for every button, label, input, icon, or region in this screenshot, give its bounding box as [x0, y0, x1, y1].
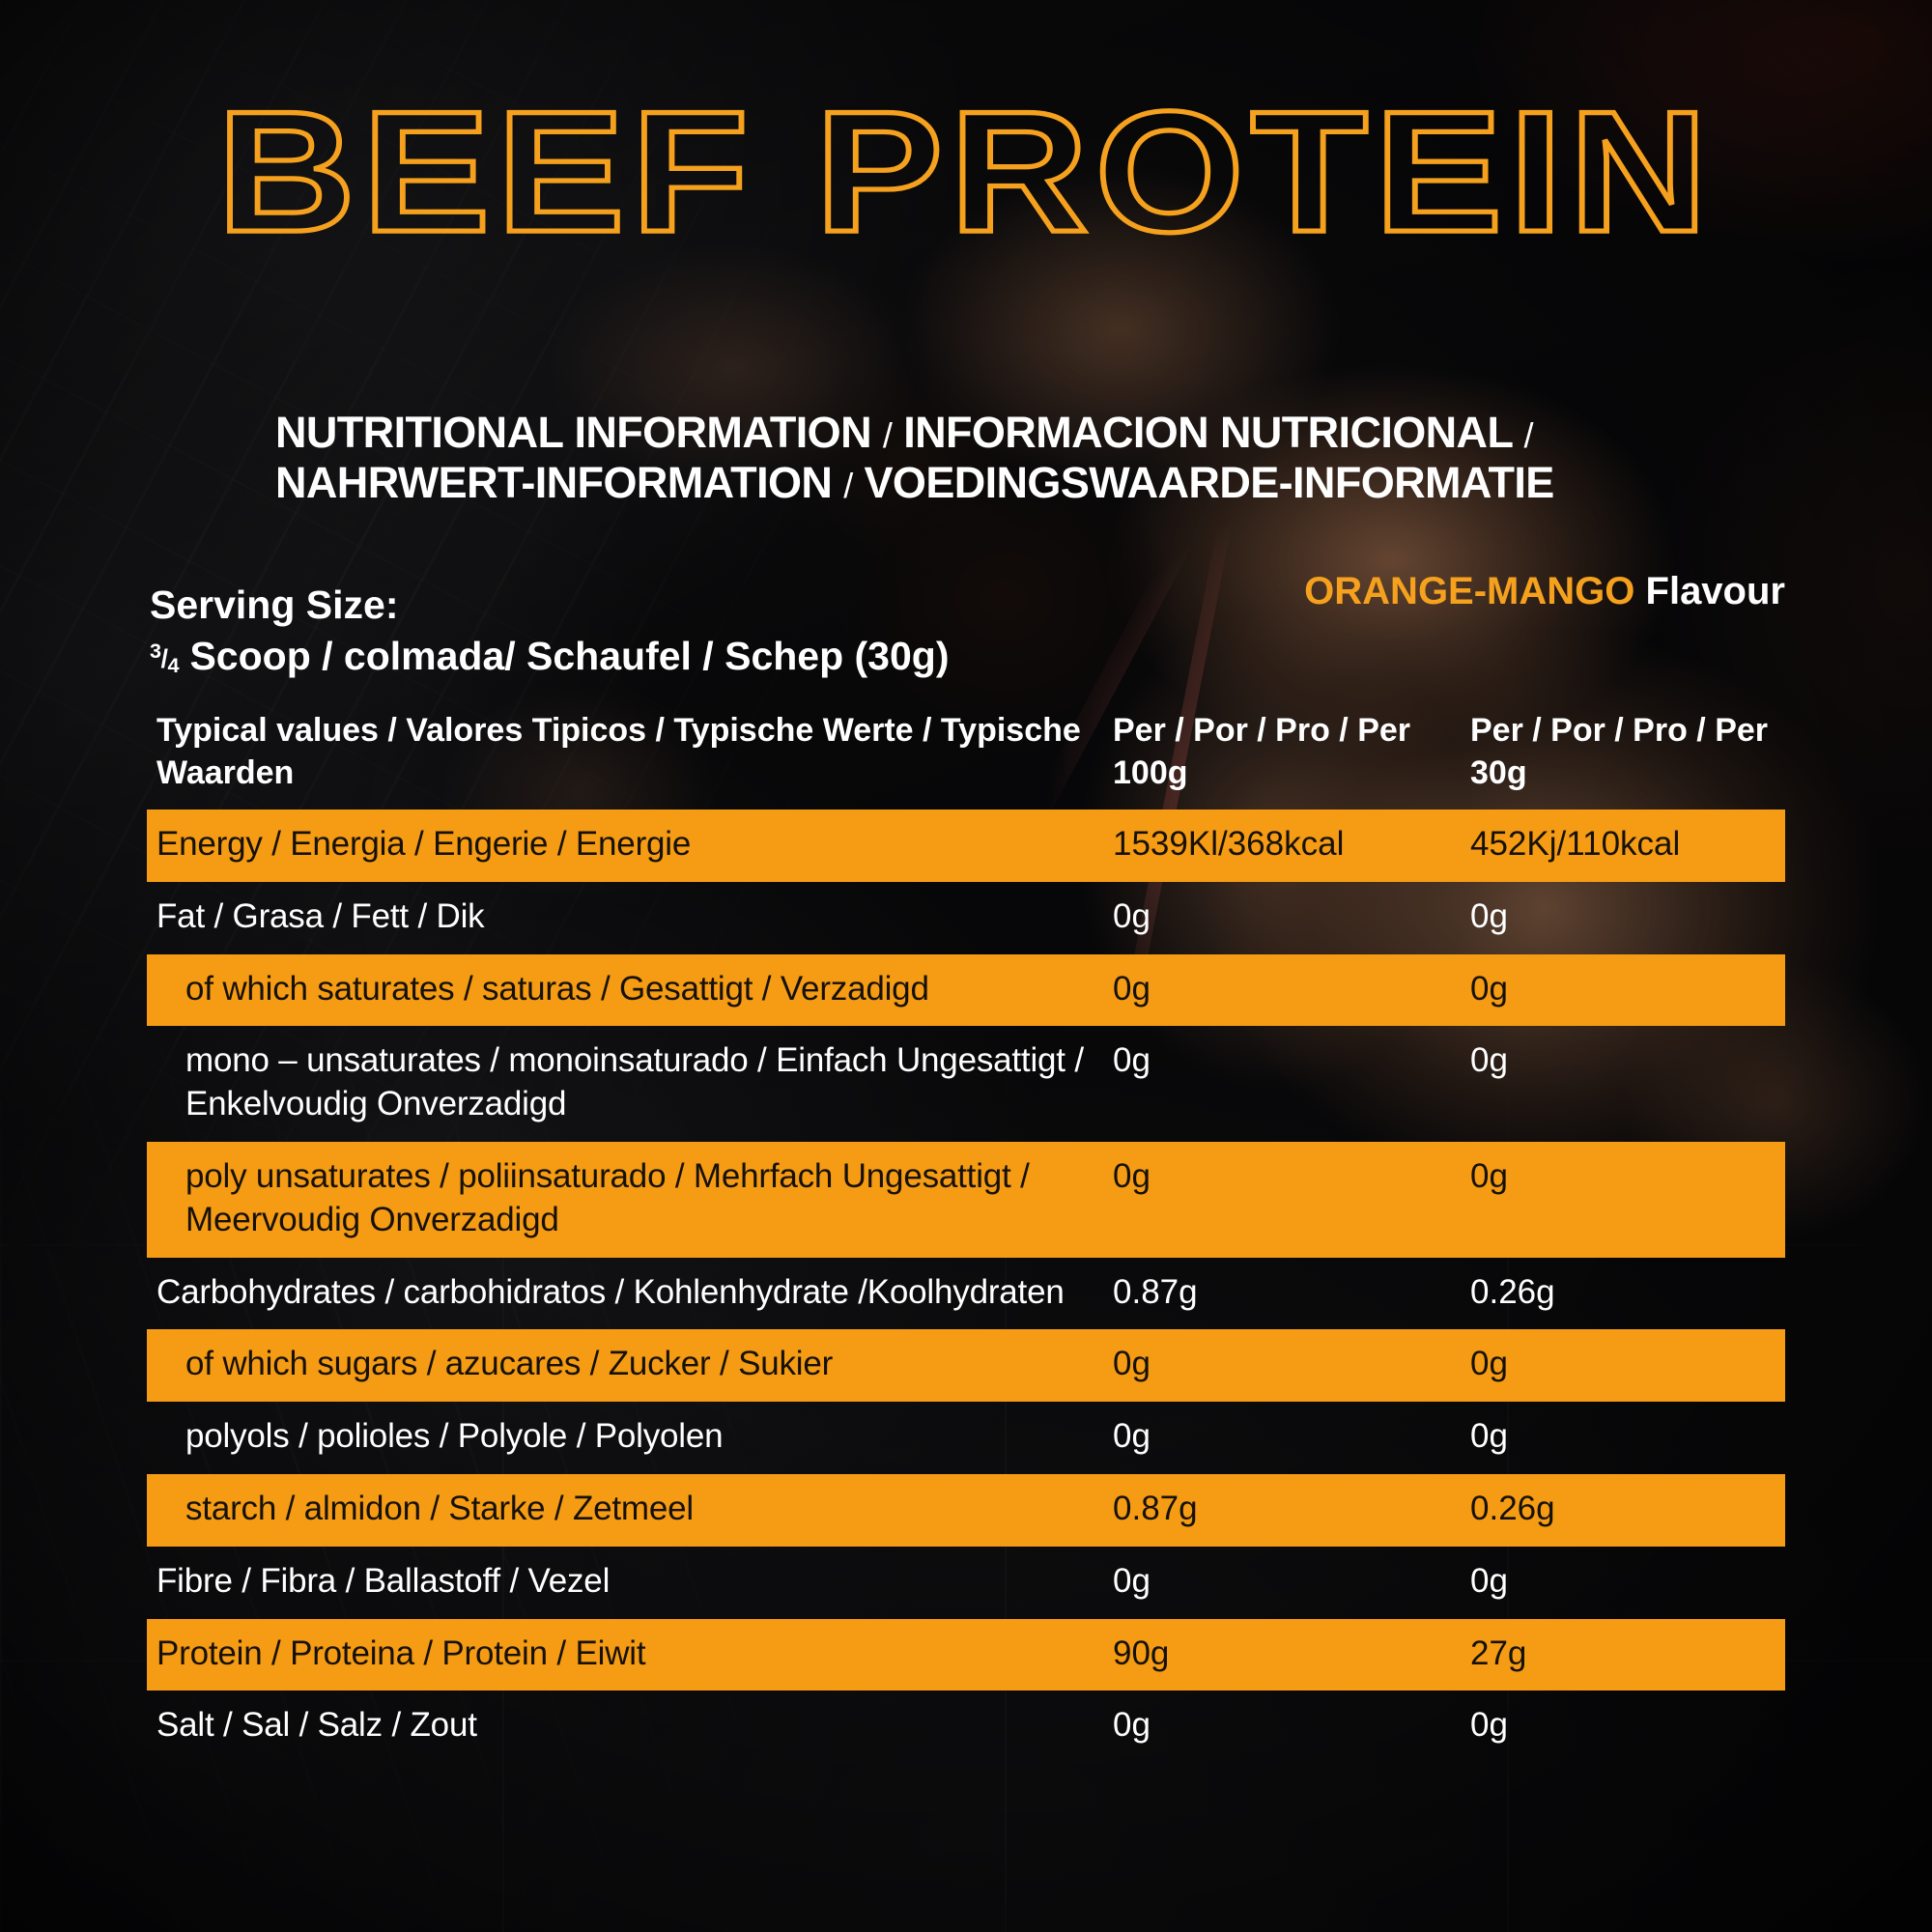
table-cell-per100g: 0g [1113, 1142, 1461, 1214]
table-cell-label: mono – unsaturates / monoinsaturado / Ei… [185, 1026, 1113, 1142]
table-cell-label: starch / almidon / Starke / Zetmeel [185, 1474, 1113, 1547]
heading-line2-de: NAHRWERT-INFORMATION [275, 458, 832, 507]
table-cell-label: Protein / Proteina / Protein / Eiwit [156, 1619, 1108, 1691]
table-cell-per100g: 0g [1113, 1329, 1461, 1402]
table-row: polyols / polioles / Polyole / Polyolen0… [147, 1402, 1785, 1474]
table-cell-label: Fibre / Fibra / Ballastoff / Vezel [156, 1547, 1108, 1619]
nutrition-table: Typical values / Valores Tipicos / Typis… [147, 705, 1785, 1763]
table-header-row: Typical values / Valores Tipicos / Typis… [147, 705, 1785, 810]
table-cell-per30g: 0g [1470, 954, 1799, 1027]
table-cell-per100g: 0.87g [1113, 1474, 1461, 1547]
table-cell-per30g: 0g [1470, 1690, 1799, 1763]
table-cell-label: poly unsaturates / poliinsaturado / Mehr… [185, 1142, 1113, 1258]
product-title: BEEF PROTEIN [217, 93, 1715, 251]
table-cell-per100g: 0g [1113, 1402, 1461, 1474]
table-header-label: Typical values / Valores Tipicos / Typis… [156, 709, 1094, 794]
table-cell-per100g: 0.87g [1113, 1258, 1461, 1330]
heading-line1-en: NUTRITIONAL INFORMATION [275, 408, 871, 457]
nutrition-label-page: BEEF PROTEIN NUTRITIONAL INFORMATION / I… [0, 0, 1932, 1932]
table-cell-label: Carbohydrates / carbohidratos / Kohlenhy… [156, 1258, 1108, 1330]
table-cell-per100g: 0g [1113, 954, 1461, 1027]
table-cell-label: Salt / Sal / Salz / Zout [156, 1690, 1108, 1763]
table-cell-label: of which saturates / saturas / Gesattigt… [185, 954, 1113, 1027]
table-cell-per30g: 27g [1470, 1619, 1799, 1691]
table-row: Energy / Energia / Engerie / Energie1539… [147, 810, 1785, 882]
table-cell-label: polyols / polioles / Polyole / Polyolen [185, 1402, 1113, 1474]
heading-separator-2: / [1523, 415, 1532, 455]
table-cell-per30g: 452Kj/110kcal [1470, 810, 1799, 882]
table-cell-label: Energy / Energia / Engerie / Energie [156, 810, 1108, 882]
table-cell-per100g: 0g [1113, 1547, 1461, 1619]
nutritional-information-heading: NUTRITIONAL INFORMATION / INFORMACION NU… [275, 408, 1860, 508]
table-row: mono – unsaturates / monoinsaturado / Ei… [147, 1026, 1785, 1142]
serving-size-label: Serving Size: [150, 580, 949, 631]
heading-line1-es: INFORMACION NUTRICIONAL [903, 408, 1512, 457]
table-row: Fibre / Fibra / Ballastoff / Vezel0g0g [147, 1547, 1785, 1619]
table-header-per30g: Per / Por / Pro / Per 30g [1470, 709, 1799, 794]
table-row: of which saturates / saturas / Gesattigt… [147, 954, 1785, 1027]
table-cell-per30g: 0.26g [1470, 1258, 1799, 1330]
table-row: Salt / Sal / Salz / Zout0g0g [147, 1690, 1785, 1763]
table-cell-per100g: 90g [1113, 1619, 1461, 1691]
table-cell-label: of which sugars / azucares / Zucker / Su… [185, 1329, 1113, 1402]
table-row: Carbohydrates / carbohidratos / Kohlenhy… [147, 1258, 1785, 1330]
serving-size-fraction: 3/4 [150, 644, 179, 673]
heading-separator-1: / [883, 415, 892, 455]
table-cell-per30g: 0g [1470, 1026, 1799, 1098]
table-row: Protein / Proteina / Protein / Eiwit90g2… [147, 1619, 1785, 1691]
flavour-block: ORANGE-MANGO Flavour [1304, 570, 1785, 613]
flavour-name: ORANGE-MANGO [1304, 570, 1634, 612]
heading-line2-nl: VOEDINGSWAARDE-INFORMATIE [865, 458, 1554, 507]
table-cell-per100g: 0g [1113, 1026, 1461, 1098]
table-row: Fat / Grasa / Fett / Dik0g0g [147, 882, 1785, 954]
table-cell-per30g: 0g [1470, 1142, 1799, 1214]
table-cell-per100g: 1539Kl/368kcal [1113, 810, 1461, 882]
table-cell-per100g: 0g [1113, 882, 1461, 954]
product-title-container: BEEF PROTEIN [0, 93, 1932, 242]
table-row: poly unsaturates / poliinsaturado / Mehr… [147, 1142, 1785, 1258]
table-row: starch / almidon / Starke / Zetmeel0.87g… [147, 1474, 1785, 1547]
serving-size-block: Serving Size: 3/4 Scoop / colmada/ Schau… [150, 580, 949, 683]
table-cell-per30g: 0.26g [1470, 1474, 1799, 1547]
table-row: of which sugars / azucares / Zucker / Su… [147, 1329, 1785, 1402]
serving-size-value: Scoop / colmada/ Schaufel / Schep (30g) [189, 634, 949, 678]
table-cell-per100g: 0g [1113, 1690, 1461, 1763]
table-cell-per30g: 0g [1470, 1402, 1799, 1474]
fraction-numerator: 3 [150, 639, 161, 663]
table-body: Energy / Energia / Engerie / Energie1539… [147, 810, 1785, 1763]
serving-size-value-line: 3/4 Scoop / colmada/ Schaufel / Schep (3… [150, 631, 949, 682]
table-cell-per30g: 0g [1470, 1547, 1799, 1619]
flavour-suffix: Flavour [1646, 570, 1785, 612]
table-cell-per30g: 0g [1470, 1329, 1799, 1402]
table-header-per100g: Per / Por / Pro / Per 100g [1113, 709, 1461, 794]
fraction-denominator: 4 [168, 653, 180, 677]
table-cell-label: Fat / Grasa / Fett / Dik [156, 882, 1108, 954]
heading-separator-3: / [843, 466, 852, 505]
table-cell-per30g: 0g [1470, 882, 1799, 954]
